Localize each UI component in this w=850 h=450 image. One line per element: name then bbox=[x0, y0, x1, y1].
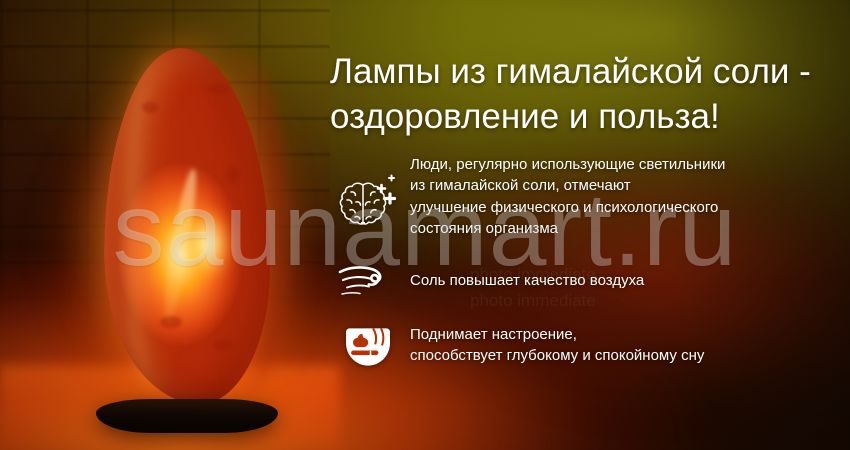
page-title: Лампы из гималайской соли - оздоровление… bbox=[330, 50, 850, 140]
feature-item-sleep: Поднимает настроение, способствует глубо… bbox=[326, 310, 850, 380]
feature-text: Поднимает настроение, способствует глубо… bbox=[410, 324, 850, 367]
brain-icon bbox=[326, 152, 410, 252]
feature-text: Соль повышает качество воздуха bbox=[410, 270, 850, 291]
feature-list: Люди, регулярно использующие светильники… bbox=[326, 152, 850, 380]
content-column: Лампы из гималайской соли - оздоровление… bbox=[326, 0, 850, 450]
wind-icon bbox=[326, 252, 410, 310]
salt-lamp-promo-banner: photo immediate photo immediate Лампы из… bbox=[0, 0, 850, 450]
feature-item-health: Люди, регулярно использующие светильники… bbox=[326, 152, 850, 252]
sleeping-person-icon bbox=[326, 310, 410, 380]
feature-text: Люди, регулярно использующие светильники… bbox=[410, 152, 850, 239]
feature-item-air-quality: Соль повышает качество воздуха bbox=[326, 252, 850, 310]
